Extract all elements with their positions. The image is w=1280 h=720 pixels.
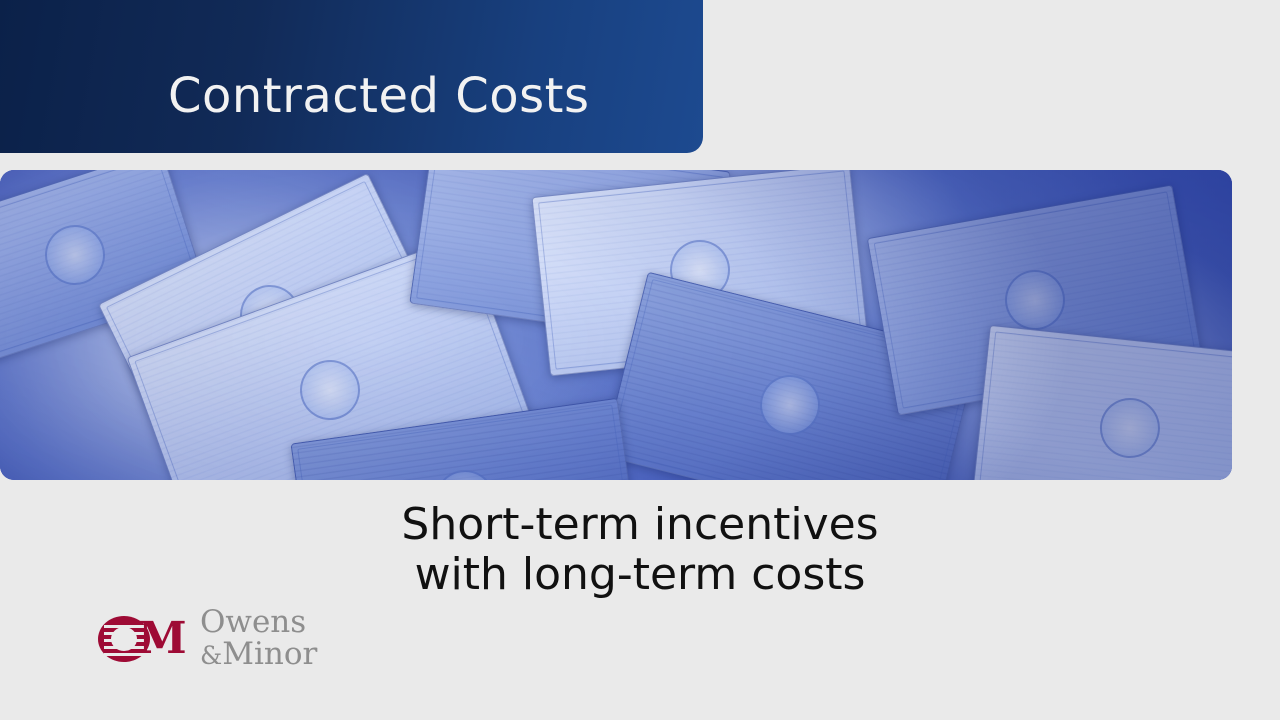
logo-m-letter: M — [138, 616, 185, 662]
slide-subtitle: Short-term incentives with long-term cos… — [0, 500, 1280, 600]
photo-vignette — [0, 170, 1232, 480]
subtitle-line-1: Short-term incentives — [401, 499, 878, 550]
owens-minor-logo: M Owens &Minor — [98, 608, 317, 670]
hero-image: 100 — [0, 170, 1232, 480]
logo-minor-text: Minor — [222, 636, 317, 672]
title-banner: Contracted Costs — [0, 0, 703, 153]
money-photo: 100 — [0, 170, 1232, 480]
logo-line-owens: Owens — [200, 607, 317, 639]
subtitle-line-2: with long-term costs — [0, 550, 1280, 600]
logo-ampersand: & — [200, 641, 222, 670]
om-monogram-icon: M — [98, 610, 194, 668]
page-title: Contracted Costs — [168, 72, 589, 120]
logo-wordmark: Owens &Minor — [200, 607, 317, 670]
slide-canvas: Contracted Costs 100 Short-term incentiv… — [0, 0, 1280, 720]
logo-line-minor: &Minor — [200, 639, 317, 671]
